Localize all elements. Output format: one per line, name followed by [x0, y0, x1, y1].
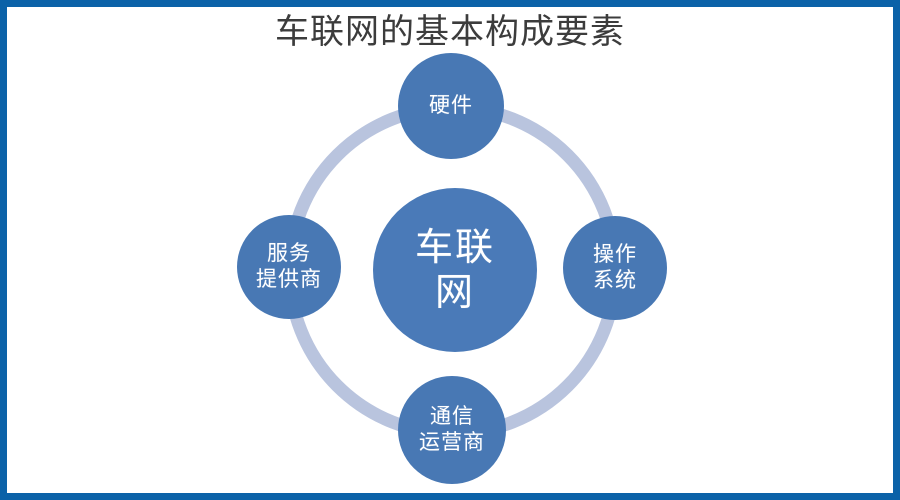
node-operating-system-label: 操作 系统 [593, 242, 637, 293]
cycle-diagram: 硬件 操作 系统 通信 运营商 服务 提供商 车联 网 [0, 0, 900, 500]
node-hardware[interactable]: 硬件 [398, 53, 504, 159]
page-title: 车联网的基本构成要素 [0, 10, 900, 54]
node-service-provider-label: 服务 提供商 [256, 241, 322, 292]
node-telecom-operator[interactable]: 通信 运营商 [398, 376, 506, 484]
node-hardware-label: 硬件 [429, 93, 473, 119]
node-center-iov[interactable]: 车联 网 [373, 188, 537, 352]
node-service-provider[interactable]: 服务 提供商 [237, 215, 341, 319]
node-center-iov-label: 车联 网 [415, 225, 495, 315]
node-telecom-operator-label: 通信 运营商 [419, 404, 485, 455]
slide-canvas: 车联网的基本构成要素 硬件 操作 系统 通信 运营商 服务 提供商 车联 网 [0, 0, 900, 500]
node-operating-system[interactable]: 操作 系统 [563, 216, 667, 320]
